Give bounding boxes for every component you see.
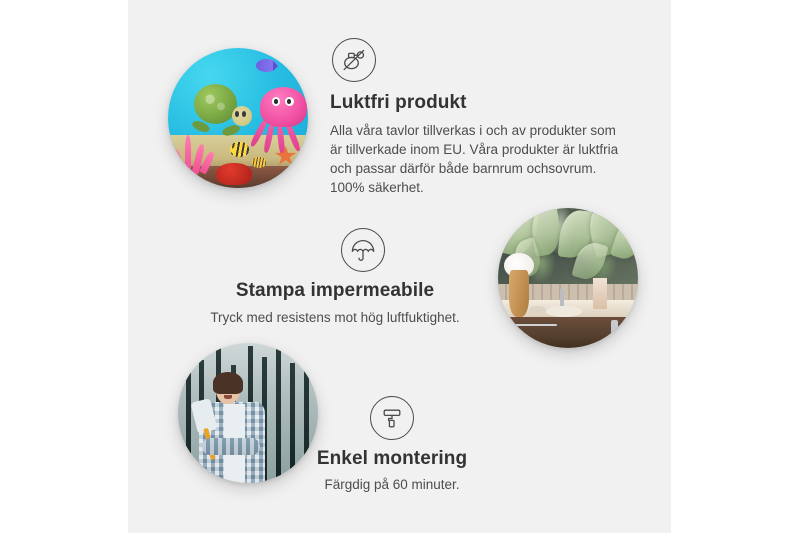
feature-body: Alla våra tavlor tillverkas i och av pro… (330, 121, 630, 198)
small-fish-icon (252, 157, 266, 168)
wood-vanity-cabinet (498, 317, 638, 348)
feature-waterproof-print: Stampa impermeabile Tryck med resistens … (185, 228, 485, 327)
no-odor-perfume-icon (332, 38, 376, 82)
tree-trunk (186, 349, 191, 483)
turtle-shell (194, 84, 238, 124)
yellow-striped-fish-icon (230, 142, 250, 157)
icon-row (185, 228, 485, 280)
woman-hair (213, 372, 243, 393)
feature-body: Tryck med resistens mot hög luftfuktighe… (185, 308, 485, 327)
blue-fish-icon (256, 59, 277, 72)
photo-ocean-kids-mural[interactable] (168, 48, 308, 188)
folded-arms (202, 438, 260, 455)
toiletry-bottle (593, 278, 607, 309)
screenshot-stage: Luktfri produkt Alla våra tavlor tillver… (0, 0, 800, 533)
ocean-scene (168, 48, 308, 188)
woman-smile (224, 395, 232, 399)
feature-easy-mounting: Enkel montering Färgdig på 60 minuter. (262, 396, 522, 494)
coral-icon (174, 132, 216, 174)
turtle-head (232, 106, 252, 126)
icon-row (262, 396, 522, 448)
octopus-body (260, 87, 307, 127)
photo-bathroom-botanical-wallpaper[interactable] (498, 208, 638, 348)
octopus-eye (272, 97, 281, 107)
bathroom-scene (498, 208, 638, 348)
octopus-icon (252, 87, 308, 151)
octopus-arm (276, 124, 285, 154)
crab-icon (216, 163, 252, 185)
paint-roller-icon (370, 396, 414, 440)
faucet-icon (560, 289, 564, 306)
feature-odor-free: Luktfri produkt Alla våra tavlor tillver… (330, 38, 630, 198)
octopus-eye (285, 97, 294, 107)
ribbed-vase (509, 270, 529, 318)
umbrella-icon (341, 228, 385, 272)
feature-title: Luktfri produkt (330, 92, 630, 114)
feature-title: Enkel montering (262, 448, 522, 470)
feature-title: Stampa impermeabile (185, 280, 485, 302)
sea-turtle-icon (190, 84, 249, 132)
feature-body: Färgdig på 60 minuter. (262, 475, 522, 494)
